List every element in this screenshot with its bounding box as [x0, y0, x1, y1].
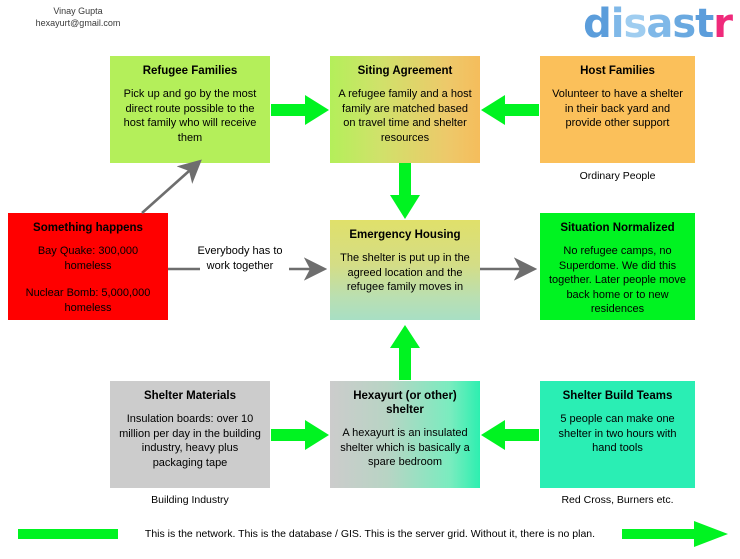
arrow-host-to-siting	[481, 93, 541, 127]
legend-arrow-right-head	[622, 520, 730, 548]
node-title: Situation Normalized	[548, 221, 687, 235]
node-siting-agreement: Siting Agreement A refugee family and a …	[330, 56, 480, 163]
node-body-line1: Bay Quake: 300,000 homeless	[16, 244, 160, 273]
author-email: hexayurt@gmail.com	[18, 17, 138, 29]
logo-letter-s2: s	[672, 1, 695, 47]
author-byline: Vinay Gupta hexayurt@gmail.com	[18, 5, 138, 29]
arrow-label-to-emergency	[289, 261, 333, 277]
node-title: Siting Agreement	[338, 64, 472, 78]
arrow-refugee-to-siting	[271, 93, 331, 127]
arrow-siting-to-emergency	[388, 163, 422, 221]
node-body: 5 people can make one shelter in two hou…	[548, 412, 687, 456]
logo-letter-a: a	[646, 1, 672, 47]
node-title: Refugee Families	[118, 64, 262, 78]
node-title: Hexayurt (or other) shelter	[338, 389, 472, 417]
logo-letter-s1: s	[624, 1, 647, 47]
label-everybody-has-to-work-together: Everybody has to work together	[192, 244, 288, 273]
node-shelter-build-teams: Shelter Build Teams 5 people can make on…	[540, 381, 695, 488]
node-body: A refugee family and a host family are m…	[338, 87, 472, 145]
diagram-canvas: Vinay Gupta hexayurt@gmail.com disastr R…	[0, 0, 740, 559]
node-something-happens: Something happens Bay Quake: 300,000 hom…	[8, 213, 168, 320]
logo-letter-d: d	[583, 1, 611, 47]
legend-label: This is the network. This is the databas…	[120, 527, 620, 541]
node-title: Emergency Housing	[338, 228, 472, 242]
node-body: Pick up and go by the most direct route …	[118, 87, 262, 145]
logo-letter-t: t	[695, 1, 713, 47]
arrow-buildteams-to-hexayurt	[481, 418, 541, 452]
node-title: Shelter Materials	[118, 389, 262, 403]
arrow-hexayurt-to-emergency	[388, 325, 422, 382]
arrow-something-to-refugee	[138, 155, 208, 217]
node-body: A hexayurt is an insulated shelter which…	[338, 426, 472, 470]
node-hexayurt-shelter: Hexayurt (or other) shelter A hexayurt i…	[330, 381, 480, 488]
node-title: Shelter Build Teams	[548, 389, 687, 403]
caption-ordinary-people: Ordinary People	[540, 170, 695, 183]
caption-red-cross-burners: Red Cross, Burners etc.	[535, 494, 700, 507]
node-body: No refugee camps, no Superdome. We did t…	[548, 244, 687, 317]
node-body-line2: Nuclear Bomb: 5,000,000 homeless	[16, 286, 160, 315]
node-title: Host Families	[548, 64, 687, 78]
node-host-families: Host Families Volunteer to have a shelte…	[540, 56, 695, 163]
node-situation-normalized: Situation Normalized No refugee camps, n…	[540, 213, 695, 320]
legend-arrow-left-bar	[18, 526, 118, 542]
node-shelter-materials: Shelter Materials Insulation boards: ove…	[110, 381, 270, 488]
node-body: Volunteer to have a shelter in their bac…	[548, 87, 687, 131]
arrow-materials-to-hexayurt	[271, 418, 331, 452]
caption-building-industry: Building Industry	[110, 494, 270, 507]
logo-letter-i: i	[611, 1, 624, 47]
node-body: The shelter is put up in the agreed loca…	[338, 251, 472, 295]
arrow-emergency-to-situation	[480, 261, 542, 277]
disastr-logo: disastr	[583, 2, 732, 46]
author-name: Vinay Gupta	[18, 5, 138, 17]
node-emergency-housing: Emergency Housing The shelter is put up …	[330, 220, 480, 320]
logo-letter-r: r	[713, 1, 732, 47]
node-refugee-families: Refugee Families Pick up and go by the m…	[110, 56, 270, 163]
node-body: Insulation boards: over 10 million per d…	[118, 412, 262, 470]
node-title: Something happens	[16, 221, 160, 235]
